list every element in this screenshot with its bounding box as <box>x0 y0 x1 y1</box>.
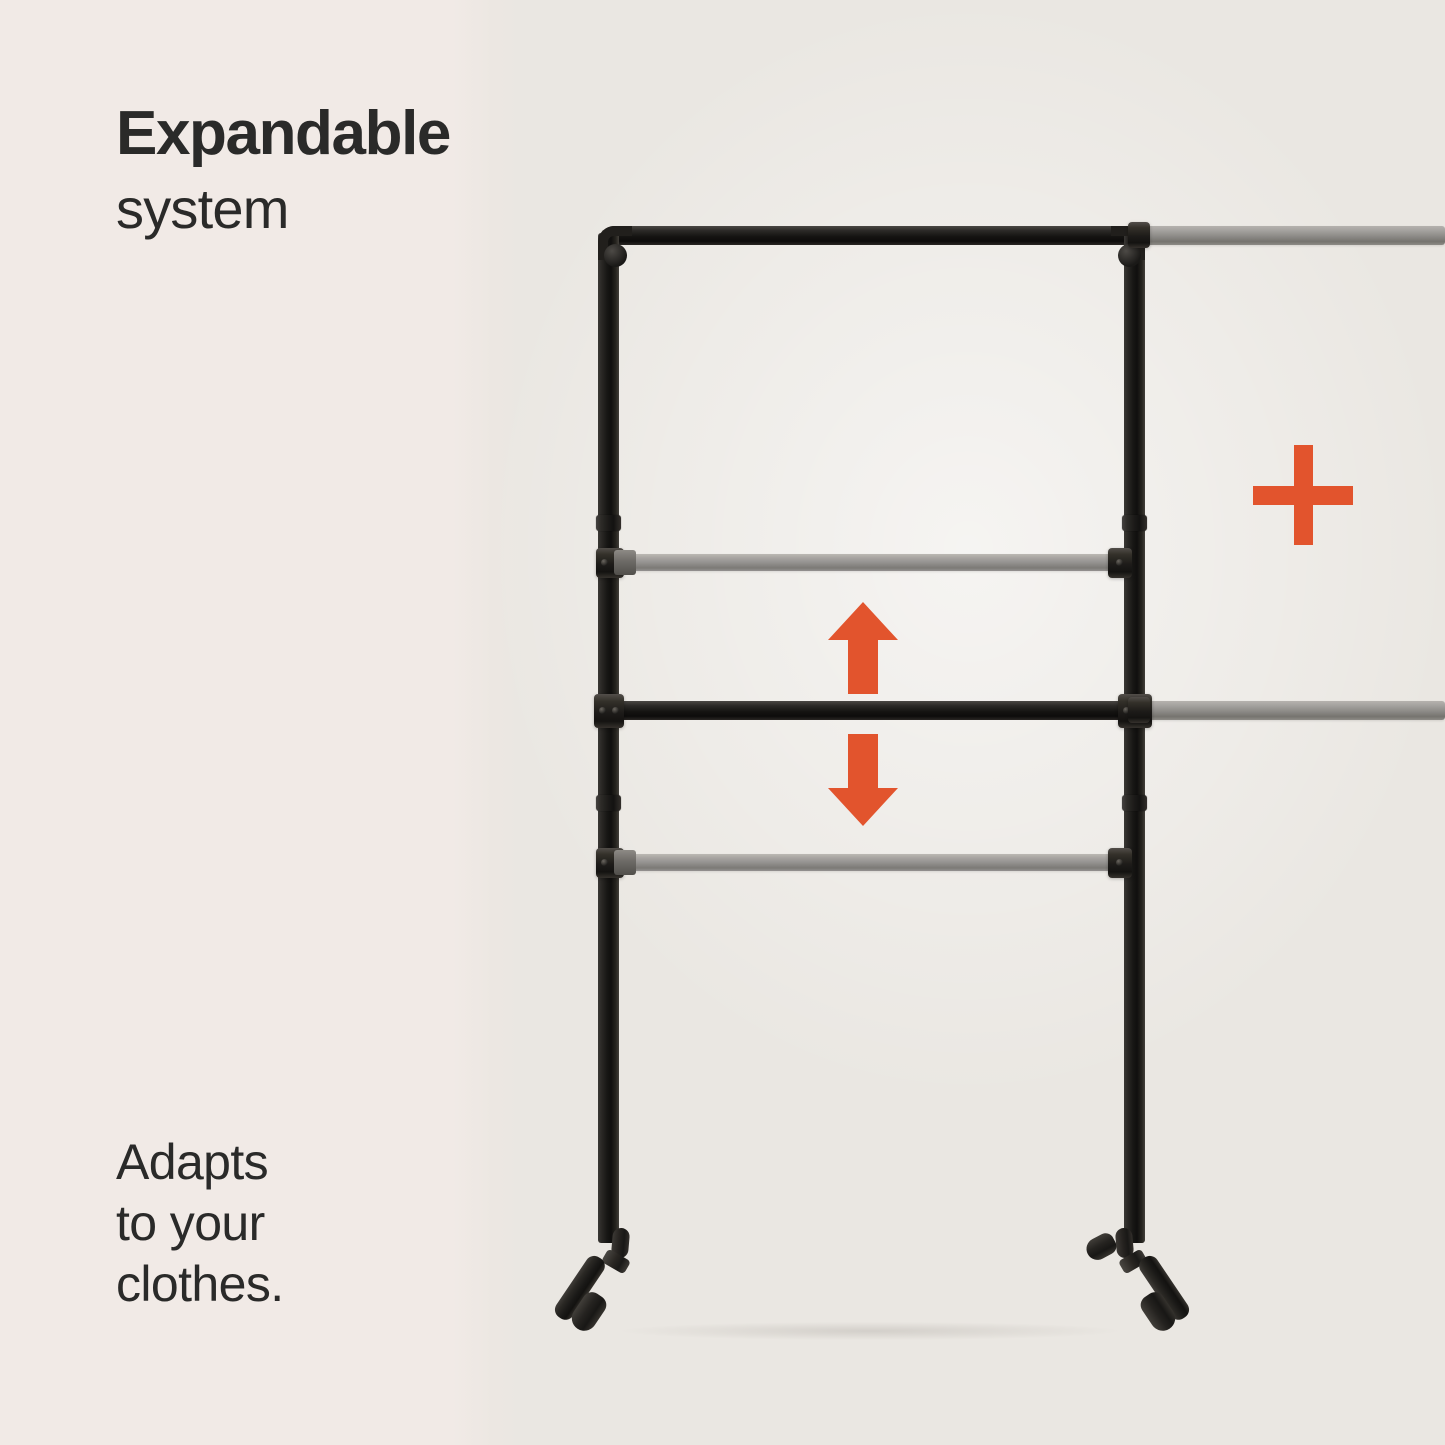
product-marketing-image: Expandable system Adapts to your clothes… <box>0 0 1445 1445</box>
arrow-up-icon <box>826 600 900 696</box>
top-black-bar <box>610 226 1130 245</box>
garment-rack-product <box>0 0 1445 1445</box>
right-foot-rear-tip <box>1083 1230 1120 1264</box>
right-post-telescope-sleeve-lower <box>1122 795 1147 811</box>
middle-black-bar <box>608 701 1132 720</box>
top-left-elbow-cap <box>604 244 627 267</box>
lower-rail-right-bracket <box>1108 848 1132 878</box>
middle-gray-extension-rail <box>1128 701 1445 720</box>
upper-gray-hanging-rail <box>620 554 1124 571</box>
right-post-telescope-sleeve-upper <box>1122 515 1147 531</box>
lower-rail-left-endcap <box>614 850 636 875</box>
left-middle-tee-fitting <box>594 694 624 728</box>
lower-gray-hanging-rail <box>620 854 1124 871</box>
right-top-extension-collar <box>1128 222 1150 248</box>
arrow-down-icon <box>826 732 900 828</box>
left-post-telescope-sleeve-lower <box>596 795 621 811</box>
plus-icon <box>1253 445 1353 545</box>
right-vertical-post <box>1124 233 1145 1243</box>
left-post-telescope-sleeve-upper <box>596 515 621 531</box>
upper-rail-right-bracket <box>1108 548 1132 578</box>
upper-rail-left-endcap <box>614 550 636 575</box>
plus-icon-vertical-bar <box>1294 445 1313 545</box>
top-gray-extension-rail <box>1128 226 1445 245</box>
left-vertical-post <box>598 233 619 1243</box>
right-middle-extension-collar <box>1128 697 1150 723</box>
